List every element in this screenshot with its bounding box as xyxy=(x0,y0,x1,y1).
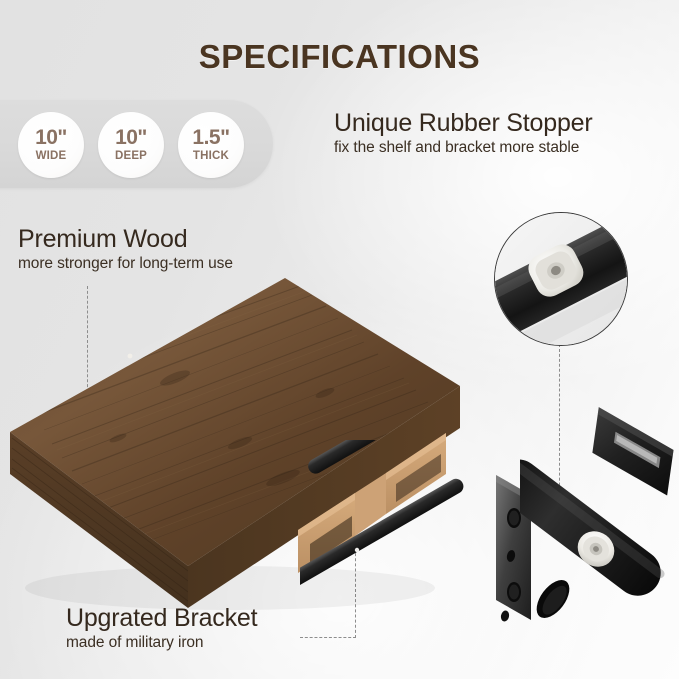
callout-rubber-stopper: Unique Rubber Stopper fix the shelf and … xyxy=(334,110,592,157)
badge-value: 10" xyxy=(115,127,147,148)
badge-label: THICK xyxy=(193,151,229,163)
metal-wall-bracket xyxy=(300,440,550,625)
badge-label: DEEP xyxy=(115,151,147,163)
metal-wall-bracket-detail xyxy=(520,398,679,638)
badge-value: 10" xyxy=(35,127,67,148)
dimension-badge-group: 10" WIDE 10" DEEP 1.5" THICK xyxy=(18,112,244,178)
badge-value: 1.5" xyxy=(192,127,229,148)
dimension-badge-deep: 10" DEEP xyxy=(98,112,164,178)
callout-subtext: fix the shelf and bracket more stable xyxy=(334,139,592,157)
rubber-stopper-closeup-inset xyxy=(494,212,628,346)
callout-subtext: made of military iron xyxy=(66,634,257,652)
callout-heading: Premium Wood xyxy=(18,226,233,252)
dimension-badge-wide: 10" WIDE xyxy=(18,112,84,178)
infographic-canvas: SPECIFICATIONS 10" WIDE 10" DEEP 1.5" TH… xyxy=(0,0,679,679)
page-title: SPECIFICATIONS xyxy=(0,38,679,76)
badge-label: WIDE xyxy=(36,151,67,163)
callout-heading: Unique Rubber Stopper xyxy=(334,110,592,136)
callout-premium-wood: Premium Wood more stronger for long-term… xyxy=(18,226,233,273)
dimension-badge-thick: 1.5" THICK xyxy=(178,112,244,178)
